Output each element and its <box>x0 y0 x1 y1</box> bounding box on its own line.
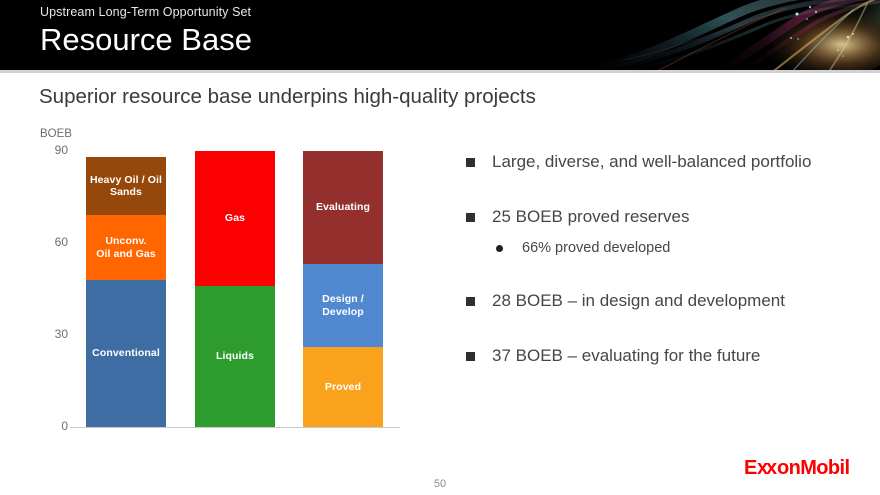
bullet-text: 25 BOEB proved reserves <box>492 205 866 229</box>
sub-bullet-item-1: 66% proved developed <box>492 238 866 258</box>
y-axis-tick-60: 60 <box>34 235 68 249</box>
bar-segment[interactable]: Proved <box>303 347 383 427</box>
bar-segment[interactable]: Heavy Oil / Oil Sands <box>86 157 166 215</box>
bar-segment-label: Heavy Oil / Oil Sands <box>88 174 164 199</box>
bullet-text: 28 BOEB – in design and development <box>492 289 866 313</box>
project-maturity-bar[interactable]: EvaluatingDesign / DevelopProved <box>303 151 383 427</box>
resource-type-bar[interactable]: Heavy Oil / Oil SandsUnconv. Oil and Gas… <box>86 157 166 427</box>
bullet-item-1: Large, diverse, and well-balanced portfo… <box>466 150 866 174</box>
y-axis-tick-0: 0 <box>34 419 68 433</box>
y-axis-tick-labels: 9060300 <box>28 0 68 495</box>
bullet-item-3: 28 BOEB – in design and development <box>466 289 866 313</box>
y-axis-tick-30: 30 <box>34 327 68 341</box>
bullet-text: 37 BOEB – evaluating for the future <box>492 344 866 368</box>
bar-segment-label: Proved <box>325 381 361 394</box>
svg-text:onMobil: onMobil <box>777 457 849 479</box>
header-art-svg <box>595 0 880 70</box>
svg-text:E: E <box>744 457 757 479</box>
bar-segment[interactable]: Conventional <box>86 280 166 427</box>
bar-segment-label: Liquids <box>216 350 254 363</box>
bar-segment-label: Design / Develop <box>322 293 364 318</box>
exxonmobil-logo: E x x onMobil <box>744 455 862 486</box>
bar-segment[interactable]: Evaluating <box>303 151 383 264</box>
square-bullet-icon <box>466 297 475 306</box>
exxonmobil-logo-svg: E x x onMobil <box>744 455 862 481</box>
bar-segment-label: Evaluating <box>316 201 370 214</box>
square-bullet-icon <box>466 158 475 167</box>
bar-segment-label: Conventional <box>92 347 160 360</box>
bar-segment[interactable]: Liquids <box>195 286 275 427</box>
hydrocarbon-phase-bar[interactable]: GasLiquids <box>195 151 275 427</box>
svg-text:x: x <box>766 457 777 479</box>
bullet-text: Large, diverse, and well-balanced portfo… <box>492 150 866 174</box>
bullet-list: Large, diverse, and well-balanced portfo… <box>466 150 866 368</box>
bar-segment-label: Gas <box>225 212 245 225</box>
bar-segment[interactable]: Unconv. Oil and Gas <box>86 215 166 279</box>
y-axis-tick-90: 90 <box>34 143 68 157</box>
abstract-light-streaks-image <box>595 0 880 70</box>
bar-segment[interactable]: Design / Develop <box>303 264 383 347</box>
bar-segment-label: Unconv. Oil and Gas <box>96 235 155 260</box>
square-bullet-icon <box>466 352 475 361</box>
bullet-item-2: 25 BOEB proved reserves66% proved develo… <box>466 205 866 258</box>
dot-bullet-icon <box>496 245 503 252</box>
bar-segment[interactable]: Gas <box>195 151 275 286</box>
chart-baseline <box>70 427 400 428</box>
sub-bullet-text: 66% proved developed <box>522 238 866 258</box>
bullet-item-4: 37 BOEB – evaluating for the future <box>466 344 866 368</box>
stacked-bar-chart: BOEB 9060300 Heavy Oil / Oil SandsUnconv… <box>0 0 440 495</box>
square-bullet-icon <box>466 213 475 222</box>
